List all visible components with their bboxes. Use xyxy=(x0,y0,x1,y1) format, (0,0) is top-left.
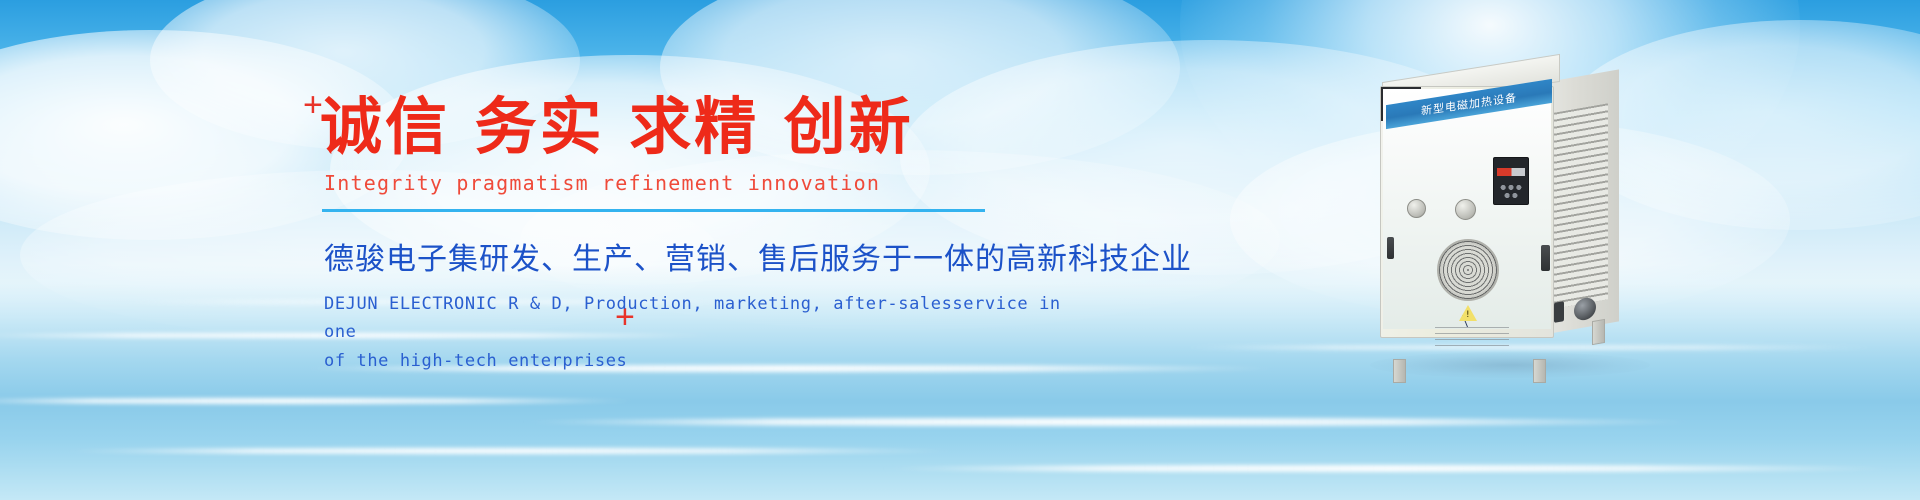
machine-foot xyxy=(1592,319,1605,345)
slogan-english: Integrity pragmatism refinement innovati… xyxy=(324,171,1080,195)
machine-vent-grille xyxy=(1554,103,1608,309)
wave-highlight xyxy=(0,398,640,404)
wave-highlight xyxy=(520,418,1700,426)
power-knob xyxy=(1455,199,1476,220)
machine-foot xyxy=(1533,359,1546,383)
tagline-english: DEJUN ELECTRONIC R & D, Production, mark… xyxy=(324,290,1080,374)
warning-triangle-icon xyxy=(1459,305,1477,321)
divider-line xyxy=(322,209,985,212)
slogan-chinese: 诚信 务实 求精 创新 xyxy=(320,92,1080,161)
tagline-english-line-2: of the high-tech enterprises xyxy=(324,347,1080,375)
machine-handle-right xyxy=(1541,245,1550,271)
machine-foot xyxy=(1393,359,1406,383)
keypad-led-display xyxy=(1497,168,1525,176)
machine-side-connector xyxy=(1554,301,1564,323)
wave-highlight xyxy=(880,465,1900,472)
banner-copy: 诚信 务实 求精 创新 Integrity pragmatism refinem… xyxy=(320,92,1080,375)
cooling-fan-icon xyxy=(1437,239,1499,301)
control-keypad xyxy=(1493,157,1529,205)
spec-text-lines xyxy=(1435,327,1509,349)
selector-knob xyxy=(1407,199,1426,218)
tagline-english-line-1: DEJUN ELECTRONIC R & D, Production, mark… xyxy=(324,290,1080,346)
wave-highlight xyxy=(60,448,960,454)
machine-handle-left xyxy=(1387,237,1394,259)
promo-banner: + + 诚信 务实 求精 创新 Integrity pragmatism ref… xyxy=(0,0,1920,500)
keypad-buttons xyxy=(1498,182,1524,200)
product-image-heating-equipment: 新型电磁加热设备 xyxy=(1378,62,1648,362)
tagline-chinese: 德骏电子集研发、生产、营销、售后服务于一体的高新科技企业 xyxy=(324,234,1080,278)
